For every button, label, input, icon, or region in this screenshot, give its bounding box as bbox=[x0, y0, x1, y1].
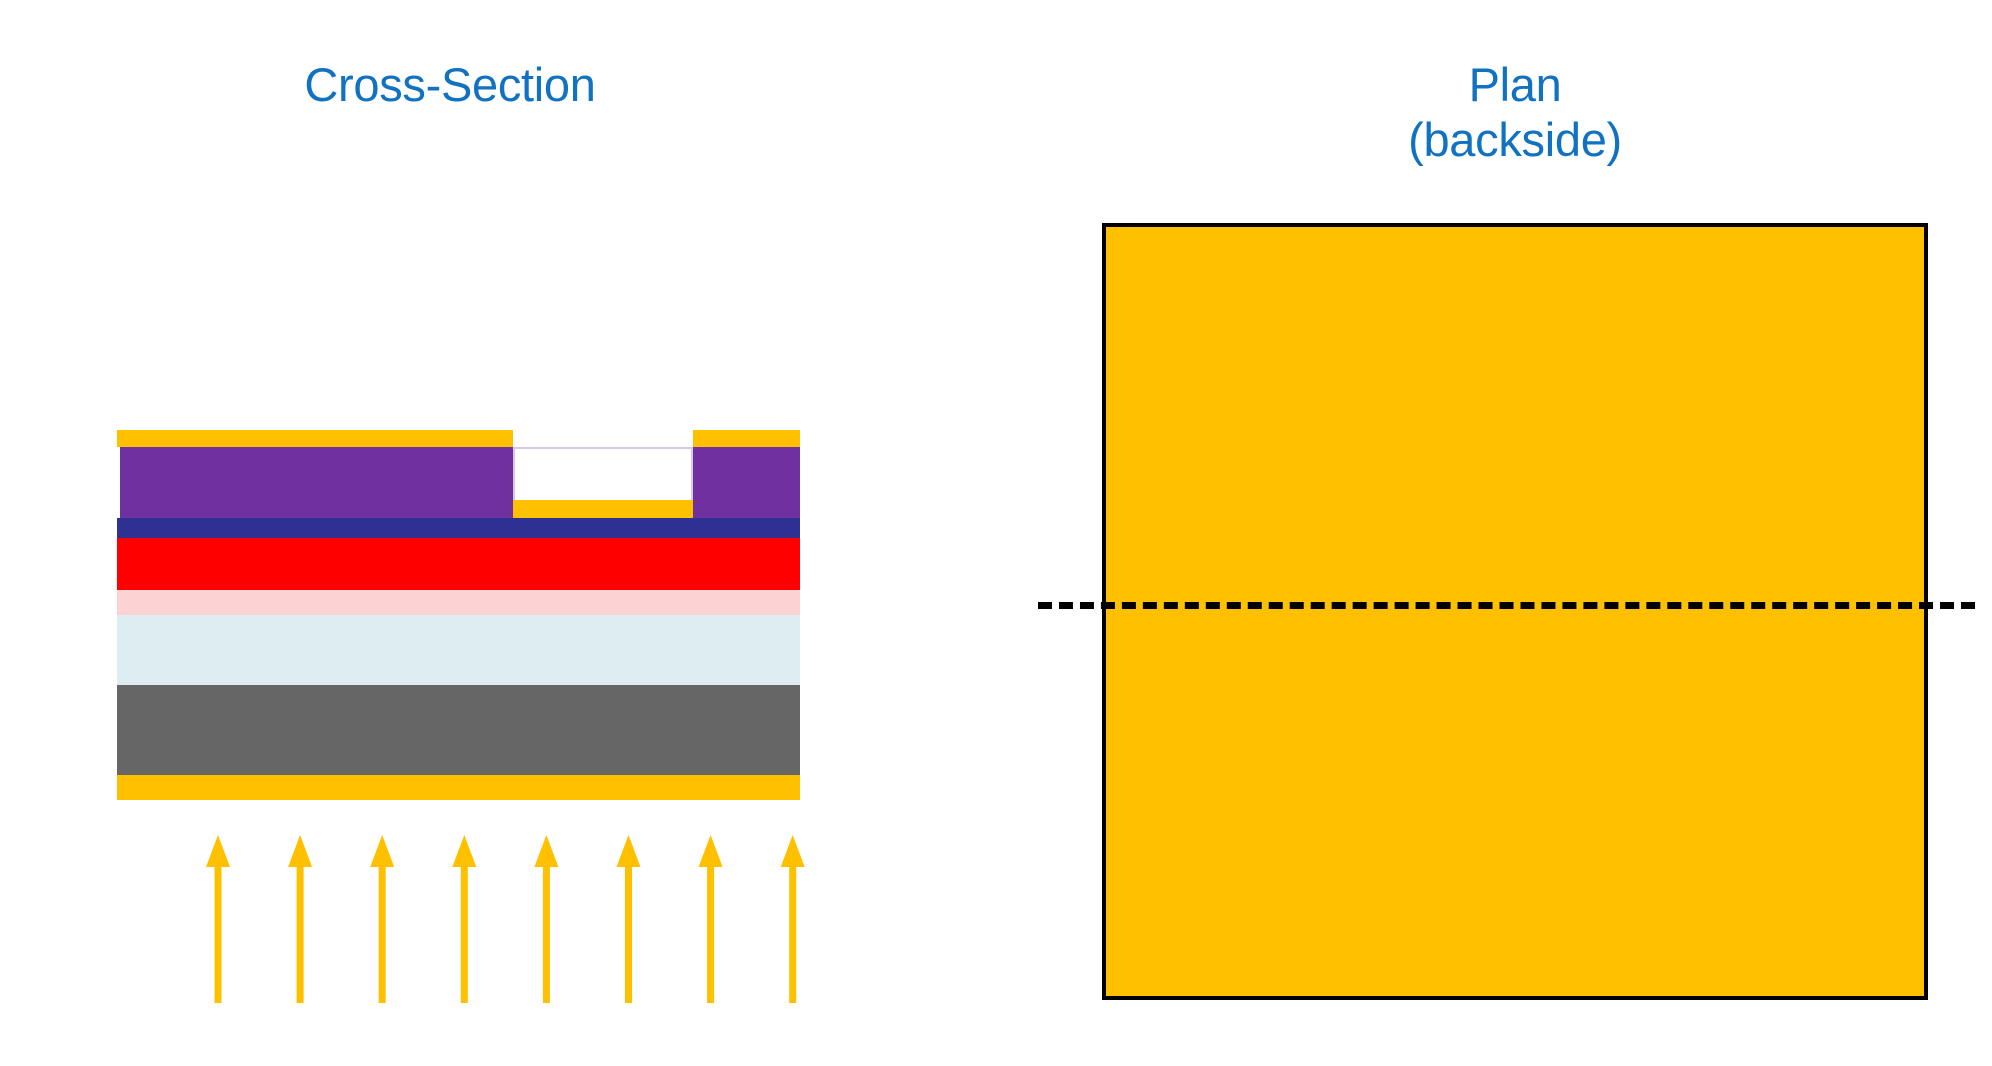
layer-gray-handle bbox=[117, 685, 800, 775]
layer-pink-buffer bbox=[117, 590, 800, 615]
layer-red-absorber bbox=[117, 538, 800, 590]
cross-section-figure bbox=[0, 0, 900, 1066]
layer-top-metal-contact bbox=[117, 430, 513, 447]
plan-view-figure bbox=[1000, 180, 1992, 1060]
diagram-canvas: Cross-Section Plan (backside) bbox=[0, 0, 1992, 1066]
backside-metal-pad bbox=[1102, 223, 1928, 1000]
layer-backside-metal bbox=[117, 775, 800, 800]
layer-trench-bottom-metal bbox=[513, 500, 693, 518]
layer-top-metal-contact bbox=[693, 430, 800, 447]
layer-purple-dielectric bbox=[693, 447, 800, 518]
section-cut-line bbox=[1038, 602, 1975, 609]
layer-indigo-barrier bbox=[117, 518, 800, 538]
trench-rim-line bbox=[513, 447, 693, 449]
layer-light-blue-substrate bbox=[117, 615, 800, 685]
trench-sidewall-right bbox=[691, 447, 693, 500]
plan-view-title: Plan (backside) bbox=[1102, 58, 1928, 167]
layer-purple-dielectric bbox=[120, 447, 513, 518]
trench-sidewall-left bbox=[513, 447, 515, 500]
